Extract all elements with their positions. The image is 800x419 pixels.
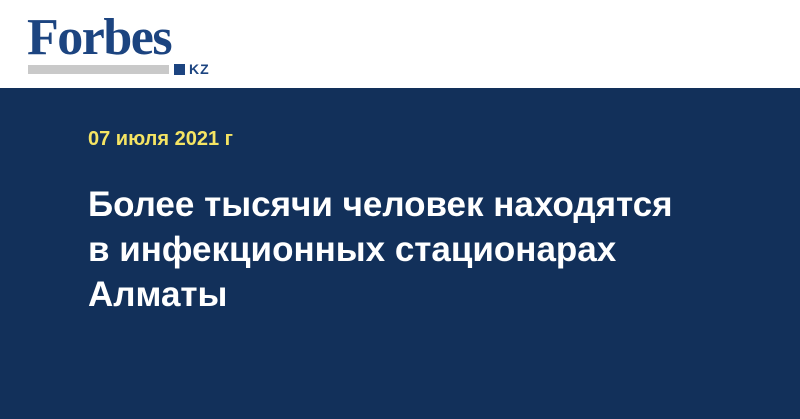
headline-line: Более тысячи человек находятся — [88, 182, 728, 227]
article-date: 07 июля 2021 г — [88, 127, 233, 151]
headline-line: Алматы — [88, 272, 728, 317]
logo-country-code: KZ — [189, 62, 210, 77]
article-card: Forbes KZ 07 июля 2021 г Более тысячи че… — [0, 0, 800, 419]
article-hero: 07 июля 2021 г Более тысячи человек нахо… — [0, 88, 800, 419]
logo-subrow: KZ — [28, 62, 227, 77]
forbes-wordmark: Forbes — [27, 13, 227, 63]
logo-square-icon — [174, 64, 185, 75]
headline-line: в инфекционных стационарах — [88, 227, 728, 272]
forbes-kz-logo[interactable]: Forbes KZ — [27, 13, 227, 79]
logo-rule-bar — [28, 65, 169, 74]
article-headline[interactable]: Более тысячи человек находятся в инфекци… — [88, 182, 728, 317]
site-header: Forbes KZ — [0, 0, 800, 88]
